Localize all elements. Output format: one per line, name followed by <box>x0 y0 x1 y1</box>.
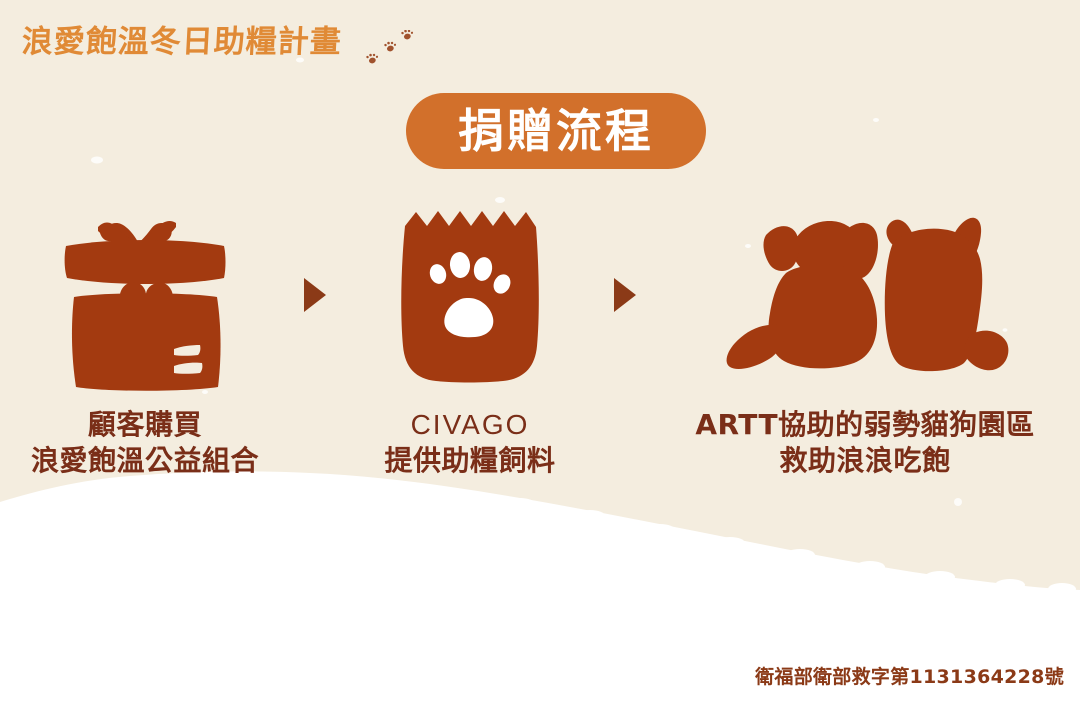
cat-silhouette <box>885 218 1009 371</box>
flow-step-2-icon-wrap <box>395 195 545 395</box>
flow-arrow-2 <box>595 195 655 395</box>
dog-and-cat-icon <box>720 215 1010 375</box>
dog-silhouette <box>727 221 878 369</box>
flow-step-1-line-1: 顧客購買 <box>31 407 259 443</box>
flow-step-3-label: ARTT協助的弱勢貓狗園區 救助浪浪吃飽 <box>695 407 1034 479</box>
page-title-badge: 捐贈流程 <box>406 93 706 169</box>
flow-step-1: 顧客購買 浪愛飽溫公益組合 <box>5 195 285 479</box>
flow-step-2-label: CIVAGO 提供助糧飼料 <box>384 407 555 479</box>
donation-flow-steps: 顧客購買 浪愛飽溫公益組合 <box>0 195 1080 495</box>
flow-step-3-icon-wrap <box>720 195 1010 395</box>
flow-step-2-line-1: CIVAGO <box>384 407 555 443</box>
flow-step-3: ARTT協助的弱勢貓狗園區 救助浪浪吃飽 <box>655 195 1075 479</box>
pet-food-bag-icon <box>395 206 545 384</box>
flow-step-2: CIVAGO 提供助糧飼料 <box>345 195 595 479</box>
flow-step-3-line-2: 救助浪浪吃飽 <box>695 443 1034 479</box>
brand-logo: 浪愛飽溫冬日助糧計畫 <box>22 14 422 74</box>
page-title: 捐贈流程 <box>458 108 654 154</box>
gift-box-icon <box>58 197 233 393</box>
flow-step-1-label: 顧客購買 浪愛飽溫公益組合 <box>31 407 259 479</box>
flow-step-1-icon-wrap <box>58 195 233 395</box>
license-number: 衛福部衛部救字第1131364228號 <box>755 662 1064 689</box>
triangle-right-icon <box>304 278 326 312</box>
flow-step-3-line-1: ARTT協助的弱勢貓狗園區 <box>695 407 1034 443</box>
flow-arrow-1 <box>285 195 345 395</box>
flow-step-2-line-2: 提供助糧飼料 <box>384 443 555 479</box>
triangle-right-icon <box>614 278 636 312</box>
paw-prints-icon <box>362 30 422 78</box>
brand-logo-text: 浪愛飽溫冬日助糧計畫 <box>21 16 343 61</box>
flow-step-1-line-2: 浪愛飽溫公益組合 <box>31 443 259 479</box>
donation-flow-poster: 浪愛飽溫冬日助糧計畫 <box>0 0 1080 703</box>
